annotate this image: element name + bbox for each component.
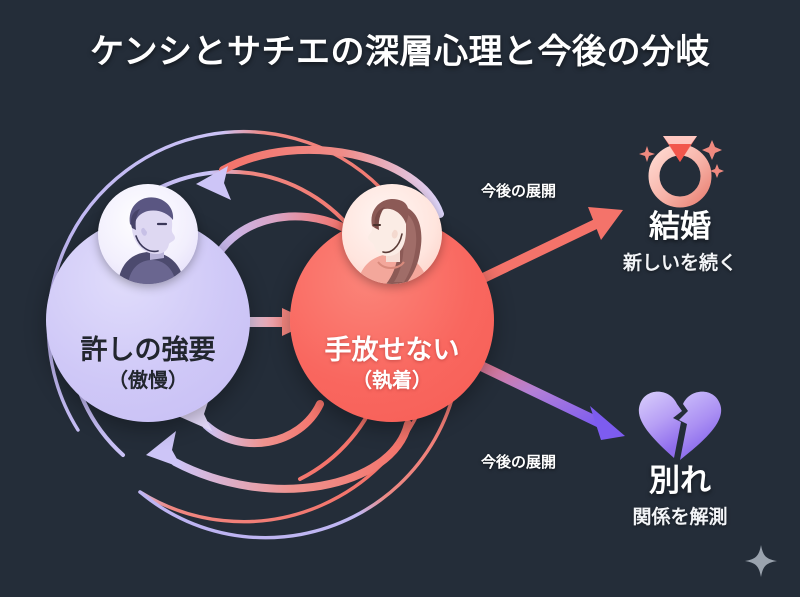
infographic-canvas: ケンシとサチエの深層心理と今後の分岐 [0, 0, 800, 597]
node-forgiveness-pressure[interactable]: 許しの強要 （傲慢） [46, 218, 250, 422]
cycle-arc-mid-bottom [146, 424, 408, 489]
male-profile-avatar-icon [98, 184, 198, 284]
node-left-text: 許しの強要 （傲慢） [46, 335, 250, 392]
outcome-breakup-subtitle: 関係を解測 [560, 502, 800, 529]
outcome-marriage-title: 結婚 [560, 210, 800, 244]
outcome-breakup-title: 別れ [560, 464, 800, 498]
diamond-ring-icon [560, 114, 800, 210]
node-left-title: 許しの強要 [46, 335, 250, 366]
branch-label-marriage: 今後の展開 [481, 180, 556, 201]
broken-heart-icon [560, 382, 800, 464]
outcome-marriage[interactable]: 結婚 新しいを続く [560, 114, 800, 275]
node-cannot-let-go[interactable]: 手放せない （執着） [290, 218, 494, 422]
outcome-breakup[interactable]: 別れ 関係を解測 [560, 382, 800, 529]
female-profile-avatar-icon [342, 184, 442, 284]
node-right-text: 手放せない （執着） [290, 335, 494, 392]
branch-label-breakup: 今後の展開 [481, 451, 556, 472]
node-right-title: 手放せない [290, 335, 494, 366]
arrowhead-icon [146, 431, 182, 468]
page-title: ケンシとサチエの深層心理と今後の分岐 [0, 24, 800, 73]
node-left-subtitle: （傲慢） [46, 369, 250, 392]
outcome-marriage-subtitle: 新しいを続く [560, 248, 800, 275]
node-right-subtitle: （執着） [290, 369, 494, 392]
four-point-sparkle-icon [744, 544, 778, 578]
